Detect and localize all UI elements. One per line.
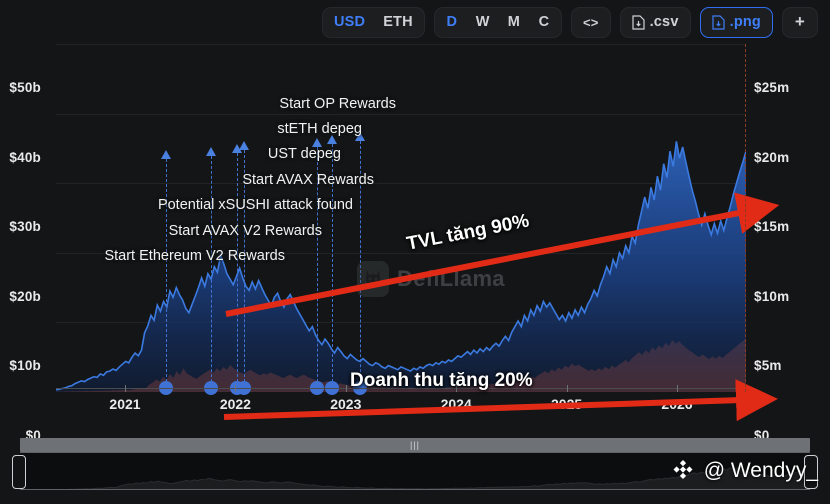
- event-label: Start AVAX Rewards: [242, 172, 374, 188]
- download-csv-group[interactable]: .csv: [620, 7, 691, 38]
- download-png-button[interactable]: .png: [703, 9, 770, 36]
- event-label: Start AVAX V2 Rewards: [169, 223, 322, 239]
- event-marker-line[interactable]: [211, 156, 212, 392]
- author-credit: @ Wendyy_: [670, 458, 818, 484]
- tvl-area: [56, 141, 746, 392]
- author-handle: @ Wendyy_: [704, 459, 818, 483]
- chart-toolbar: USD ETH D W M C <> .csv .png +: [0, 0, 830, 44]
- event-marker-line[interactable]: [237, 153, 238, 392]
- interval-monthly-button[interactable]: M: [499, 9, 529, 36]
- add-chart-group[interactable]: +: [782, 7, 818, 38]
- currency-eth-button[interactable]: ETH: [374, 9, 422, 36]
- download-png-group[interactable]: .png: [700, 7, 773, 38]
- event-marker-arrow-icon: [161, 150, 171, 159]
- event-marker-arrow-icon: [239, 141, 249, 150]
- x-axis-tickmark: [567, 385, 568, 392]
- interval-weekly-button[interactable]: W: [467, 9, 499, 36]
- event-label: Start Ethereum V2 Rewards: [104, 248, 285, 264]
- range-selector-bar[interactable]: |||: [20, 438, 810, 452]
- binance-diamond-icon: [670, 458, 696, 484]
- revenue-growth-label: Doanh thu tăng 20%: [350, 370, 533, 392]
- x-axis-tick: 2025: [551, 396, 582, 412]
- currency-toggle-group[interactable]: USD ETH: [322, 7, 425, 38]
- event-marker-line[interactable]: [166, 159, 167, 392]
- x-axis-tickmark: [677, 385, 678, 392]
- interval-toggle-group[interactable]: D W M C: [434, 7, 562, 38]
- download-csv-button[interactable]: .csv: [623, 9, 688, 36]
- event-label: Start OP Rewards: [279, 96, 396, 112]
- interval-daily-button[interactable]: D: [437, 9, 467, 36]
- event-marker-arrow-icon: [206, 147, 216, 156]
- y-axis-right-tick: $15m: [754, 219, 789, 234]
- range-handle-left[interactable]: [12, 455, 26, 489]
- y-axis-right-tick: $5m: [754, 358, 782, 373]
- chart-canvas[interactable]: $0$10b$20b$30b$40b$50b $0$5m$10m$15m$20m…: [0, 44, 830, 434]
- range-selector-grip[interactable]: |||: [409, 442, 421, 449]
- x-axis-tickmark: [235, 385, 236, 392]
- download-csv-label: .csv: [650, 14, 679, 30]
- y-axis-right-tick: $20m: [754, 150, 789, 165]
- y-axis-left-tick: $30b: [9, 219, 41, 234]
- x-axis-tick: 2022: [220, 396, 251, 412]
- x-axis-tick: 2024: [441, 396, 472, 412]
- y-axis-left-tick: $40b: [9, 150, 41, 165]
- event-label: stETH depeg: [277, 121, 362, 137]
- current-date-marker: [745, 44, 746, 392]
- series-layer: [56, 44, 746, 392]
- y-axis-right-tick: $25m: [754, 80, 789, 95]
- x-axis-tickmark: [346, 385, 347, 392]
- y-axis-left-tick: $10b: [9, 358, 41, 373]
- embed-group[interactable]: <>: [571, 7, 611, 38]
- x-axis-tick: 2023: [330, 396, 361, 412]
- download-png-label: .png: [730, 14, 761, 30]
- x-axis-tick: 2021: [109, 396, 140, 412]
- y-axis-right-tick: $10m: [754, 289, 789, 304]
- interval-cumulative-button[interactable]: C: [529, 9, 559, 36]
- y-axis-left-tick: $20b: [9, 289, 41, 304]
- x-axis-tickmark: [125, 385, 126, 392]
- y-axis-left-tick: $50b: [9, 80, 41, 95]
- event-label: UST depeg: [268, 146, 341, 162]
- plot-area: [56, 44, 746, 392]
- file-download-icon: [712, 15, 725, 30]
- file-download-icon: [632, 15, 645, 30]
- event-label: Potential xSUSHI attack found: [158, 197, 353, 213]
- currency-usd-button[interactable]: USD: [325, 9, 374, 36]
- x-axis-tick: 2026: [661, 396, 692, 412]
- add-chart-button[interactable]: +: [785, 9, 815, 36]
- embed-code-button[interactable]: <>: [574, 9, 608, 36]
